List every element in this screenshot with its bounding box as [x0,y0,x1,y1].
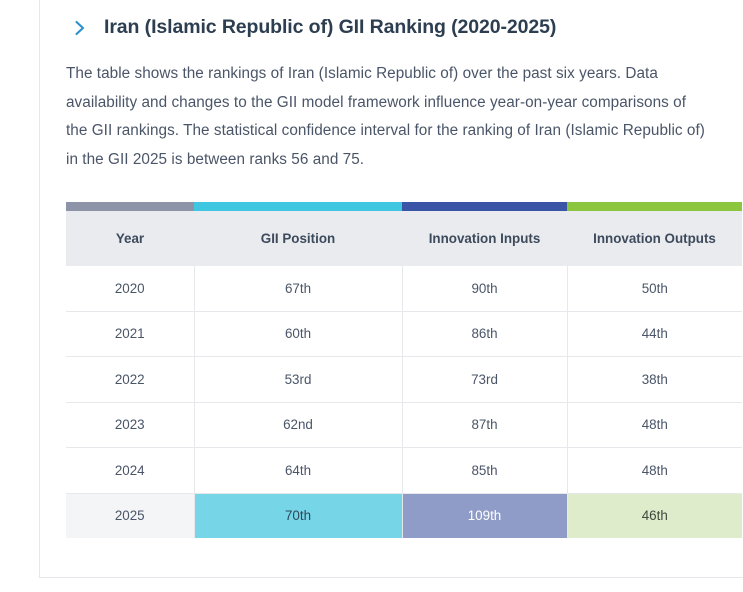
column-header-year: Year [66,211,194,266]
cell-gii: 64th [194,448,402,494]
cell-gii: 53rd [194,357,402,403]
chevron-right-icon[interactable] [70,18,90,38]
cell-inputs: 90th [402,266,567,311]
table-color-bar [66,202,742,211]
cell-outputs: 50th [567,266,742,311]
cell-outputs: 44th [567,311,742,357]
cell-outputs: 48th [567,448,742,494]
color-bar-inputs [402,202,567,211]
cell-year: 2025 [66,493,194,538]
cell-inputs: 86th [402,311,567,357]
cell-year: 2020 [66,266,194,311]
table-row: 2020 67th 90th 50th [66,266,742,311]
cell-gii: 62nd [194,402,402,448]
color-bar-year [66,202,194,211]
cell-year: 2024 [66,448,194,494]
cell-year: 2022 [66,357,194,403]
cell-inputs-highlight: 109th [402,493,567,538]
cell-inputs: 85th [402,448,567,494]
intro-paragraph: The table shows the rankings of Iran (Is… [66,60,706,174]
cell-gii: 67th [194,266,402,311]
cell-inputs: 73rd [402,357,567,403]
cell-inputs: 87th [402,402,567,448]
table-row: 2022 53rd 73rd 38th [66,357,742,403]
table-header-row: Year GII Position Innovation Inputs Inno… [66,211,742,266]
ranking-table: Year GII Position Innovation Inputs Inno… [66,202,742,538]
cell-outputs: 38th [567,357,742,403]
column-header-innovation-outputs: Innovation Outputs [567,211,742,266]
table-row: 2024 64th 85th 48th [66,448,742,494]
card-content: Iran (Islamic Republic of) GII Ranking (… [66,0,743,538]
card-left-border [39,0,40,578]
cell-year: 2021 [66,311,194,357]
table-row-current-year: 2025 70th 109th 46th [66,493,742,538]
page-title: Iran (Islamic Republic of) GII Ranking (… [104,16,556,39]
column-header-innovation-inputs: Innovation Inputs [402,211,567,266]
color-bar-gii [194,202,402,211]
card-bottom-border [39,577,743,578]
table-row: 2021 60th 86th 44th [66,311,742,357]
cell-outputs-highlight: 46th [567,493,742,538]
cell-gii: 60th [194,311,402,357]
color-bar-outputs [567,202,742,211]
cell-outputs: 48th [567,402,742,448]
column-header-gii-position: GII Position [194,211,402,266]
cell-year: 2023 [66,402,194,448]
cell-gii-highlight: 70th [194,493,402,538]
section-header[interactable]: Iran (Islamic Republic of) GII Ranking (… [66,0,743,43]
table-row: 2023 62nd 87th 48th [66,402,742,448]
page-root: Iran (Islamic Republic of) GII Ranking (… [0,0,743,592]
